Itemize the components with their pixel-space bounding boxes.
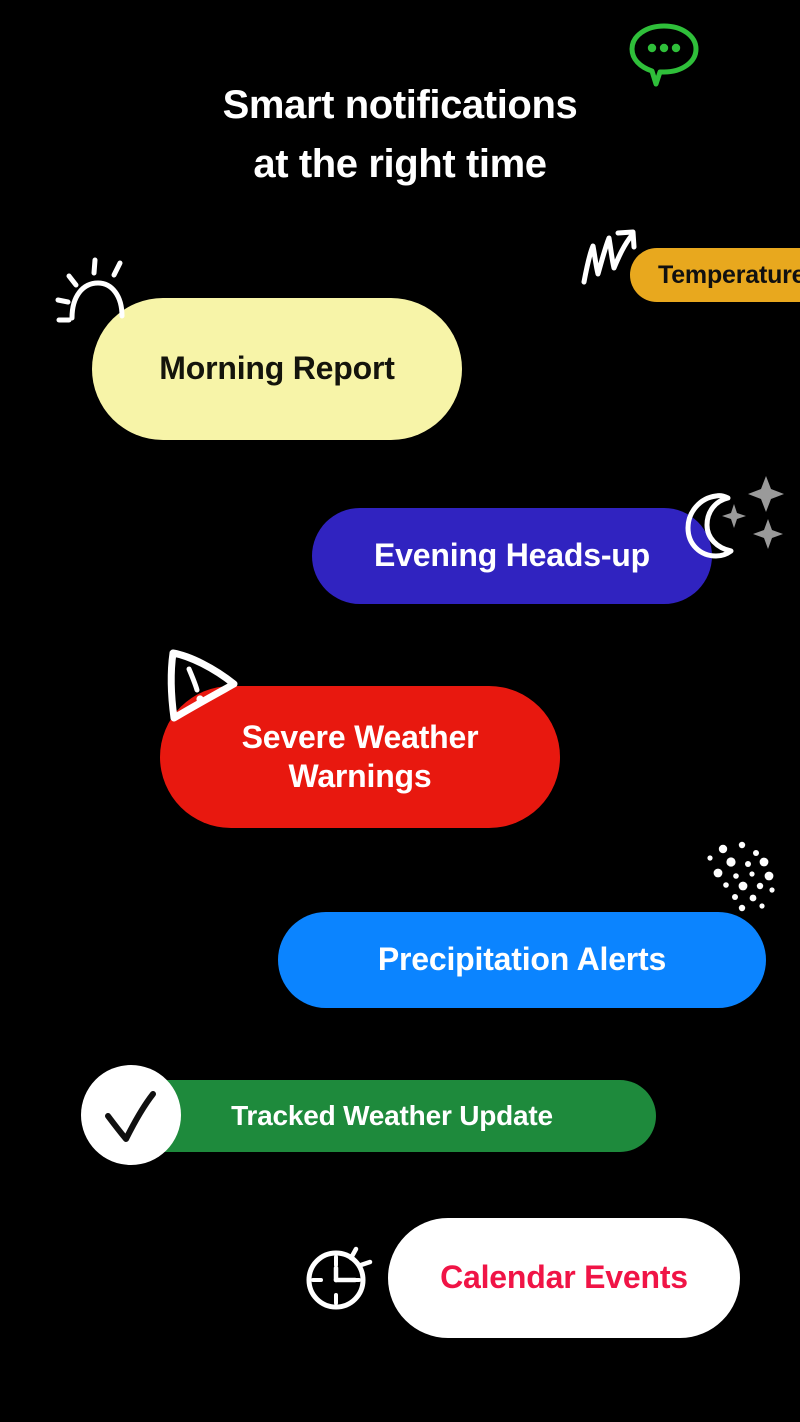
page-title-line-2: at the right time — [0, 135, 800, 194]
notification-label-calendar-events: Calendar Events — [440, 1258, 688, 1297]
notification-label-severe-weather-warnings: Severe Weather Warnings — [242, 718, 479, 796]
check-circle-icon — [80, 1064, 182, 1166]
notification-label-morning-report: Morning Report — [159, 349, 394, 388]
page-title: Smart notifications at the right time — [0, 76, 800, 194]
trend-arrow-icon — [578, 226, 650, 288]
notification-label-evening-heads-up: Evening Heads-up — [374, 536, 650, 575]
chat-bubble-icon — [626, 20, 702, 90]
alarm-clock-icon — [304, 1238, 376, 1312]
notification-pill-morning-report[interactable]: Morning Report — [92, 298, 462, 440]
notification-pill-evening-heads-up[interactable]: Evening Heads-up — [312, 508, 712, 604]
notification-label-precipitation-alerts: Precipitation Alerts — [378, 940, 666, 979]
warning-triangle-icon — [160, 644, 246, 728]
notification-label-temperature: Temperature — [658, 260, 800, 291]
notification-pill-temperature[interactable]: Temperature — [630, 248, 800, 302]
precipitation-dots-icon — [698, 840, 786, 916]
moon-stars-icon — [668, 472, 786, 562]
notification-label-tracked-weather-update: Tracked Weather Update — [231, 1099, 553, 1133]
notifications-poster: Smart notifications at the right time — [0, 0, 800, 1422]
notification-pill-precipitation-alerts[interactable]: Precipitation Alerts — [278, 912, 766, 1008]
notification-pill-calendar-events[interactable]: Calendar Events — [388, 1218, 740, 1338]
severe-label-line-1: Severe Weather — [242, 718, 479, 757]
notification-pill-tracked-weather-update[interactable]: Tracked Weather Update — [128, 1080, 656, 1152]
sunrise-icon — [52, 252, 140, 332]
severe-label-line-2: Warnings — [242, 757, 479, 796]
